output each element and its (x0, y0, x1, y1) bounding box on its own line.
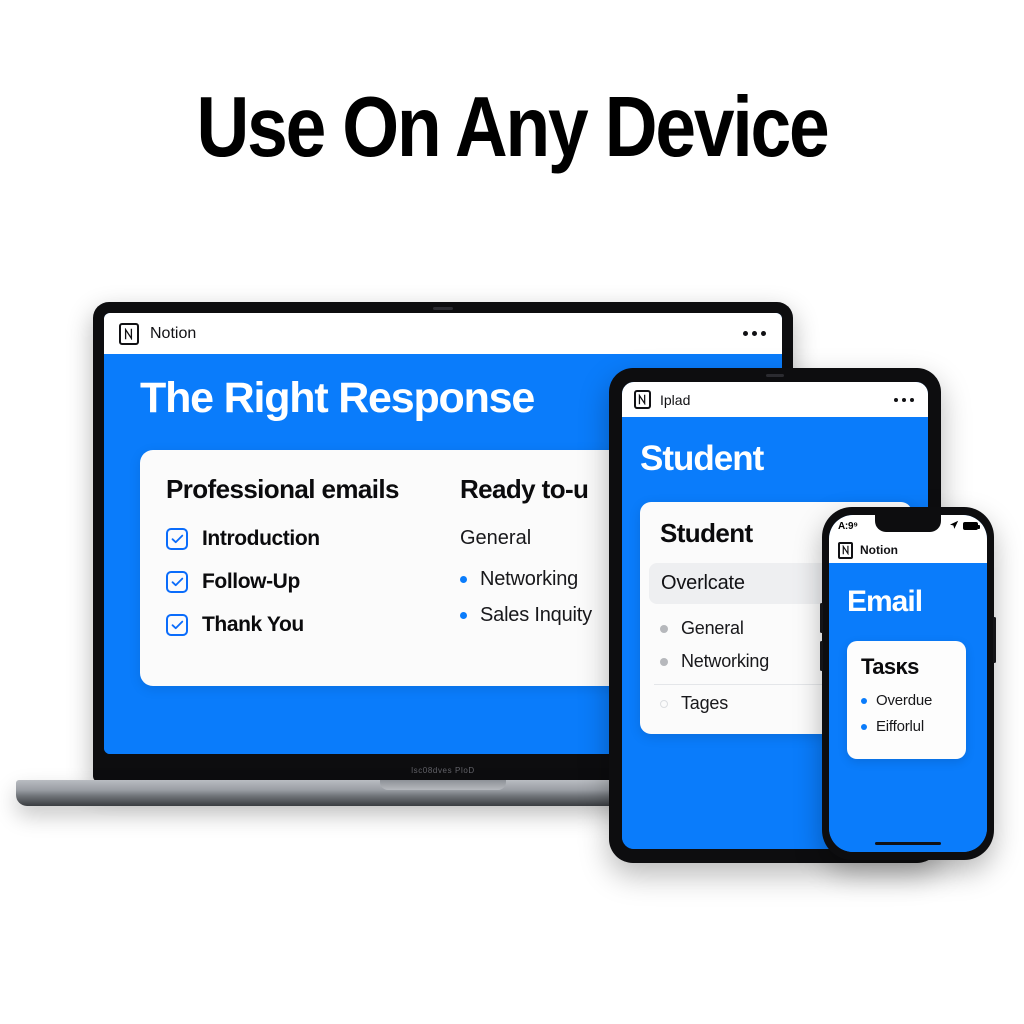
checkbox-checked-icon[interactable] (166, 614, 188, 636)
checkbox-checked-icon[interactable] (166, 528, 188, 550)
status-bar-time: A:9⁹ (838, 521, 858, 532)
tablet-page-title: Student (640, 439, 763, 479)
laptop-camera-icon (433, 307, 453, 310)
checkbox-checked-icon[interactable] (166, 571, 188, 593)
phone-app-topbar: Notion (829, 537, 987, 563)
bullet-icon (861, 724, 867, 730)
list-item-label: General (681, 618, 744, 639)
phone-app-body: Email Tasĸs Overdue Eifforlul (829, 563, 987, 852)
location-arrow-icon (949, 517, 959, 535)
laptop-app-name: Notion (150, 325, 196, 343)
checklist-item-label: Follow-Up (202, 570, 300, 594)
tablet-app-name: Iplad (660, 392, 690, 408)
list-item-label: Networking (480, 568, 578, 591)
notion-logo-icon (119, 323, 139, 345)
laptop-app-topbar: Notion (104, 313, 782, 354)
list-item-label: Networking (681, 651, 769, 672)
notion-logo-icon (634, 390, 651, 409)
phone-volume-button[interactable] (820, 603, 823, 633)
more-horizontal-icon[interactable] (894, 398, 914, 402)
phone-content-card: Tasĸs Overdue Eifforlul (847, 641, 966, 759)
phone-card-title: Tasĸs (847, 654, 966, 680)
phone-power-button[interactable] (993, 617, 996, 663)
device-showcase-scene: Notion The Right Response Professional e… (0, 0, 1024, 1024)
phone-volume-down-button[interactable] (820, 641, 823, 671)
notion-logo-icon (838, 542, 853, 559)
bullet-icon (660, 658, 668, 666)
bullet-icon (861, 698, 867, 704)
list-item-label: Tages (681, 693, 728, 714)
tablet-camera-icon (766, 374, 784, 377)
phone-page-title: Email (847, 585, 922, 619)
list-item-label: Overdue (876, 692, 932, 709)
checklist-item[interactable]: Introduction (166, 527, 440, 551)
phone-home-indicator[interactable] (875, 842, 941, 845)
laptop-column-professional-emails: Professional emails Introduction (140, 474, 440, 656)
list-item[interactable]: Eifforlul (847, 718, 966, 735)
list-item-label: Eifforlul (876, 718, 924, 735)
bullet-icon (460, 576, 467, 583)
laptop-page-title: The Right Response (140, 374, 534, 423)
laptop-trackpad-notch (380, 780, 506, 790)
status-bar-icons (949, 517, 978, 535)
phone-screen: A:9⁹ Notion (829, 515, 987, 852)
bullet-icon (660, 700, 668, 708)
checklist-item[interactable]: Thank You (166, 613, 440, 637)
phone-device: A:9⁹ Notion (822, 507, 994, 860)
list-item-label: Sales Inquity (480, 604, 592, 627)
more-horizontal-icon[interactable] (743, 331, 766, 336)
phone-app-name: Notion (860, 543, 898, 557)
bullet-icon (660, 625, 668, 633)
phone-notch (875, 515, 941, 532)
list-item[interactable]: Overdue (847, 692, 966, 709)
checklist-item[interactable]: Follow-Up (166, 570, 440, 594)
checklist-item-label: Thank You (202, 613, 304, 637)
tablet-app-topbar: Iplad (622, 382, 928, 417)
laptop-column-title: Professional emails (166, 474, 440, 505)
phone-status-bar: A:9⁹ (829, 515, 987, 537)
bullet-icon (460, 612, 467, 619)
checklist-item-label: Introduction (202, 527, 320, 551)
battery-icon (963, 522, 978, 530)
